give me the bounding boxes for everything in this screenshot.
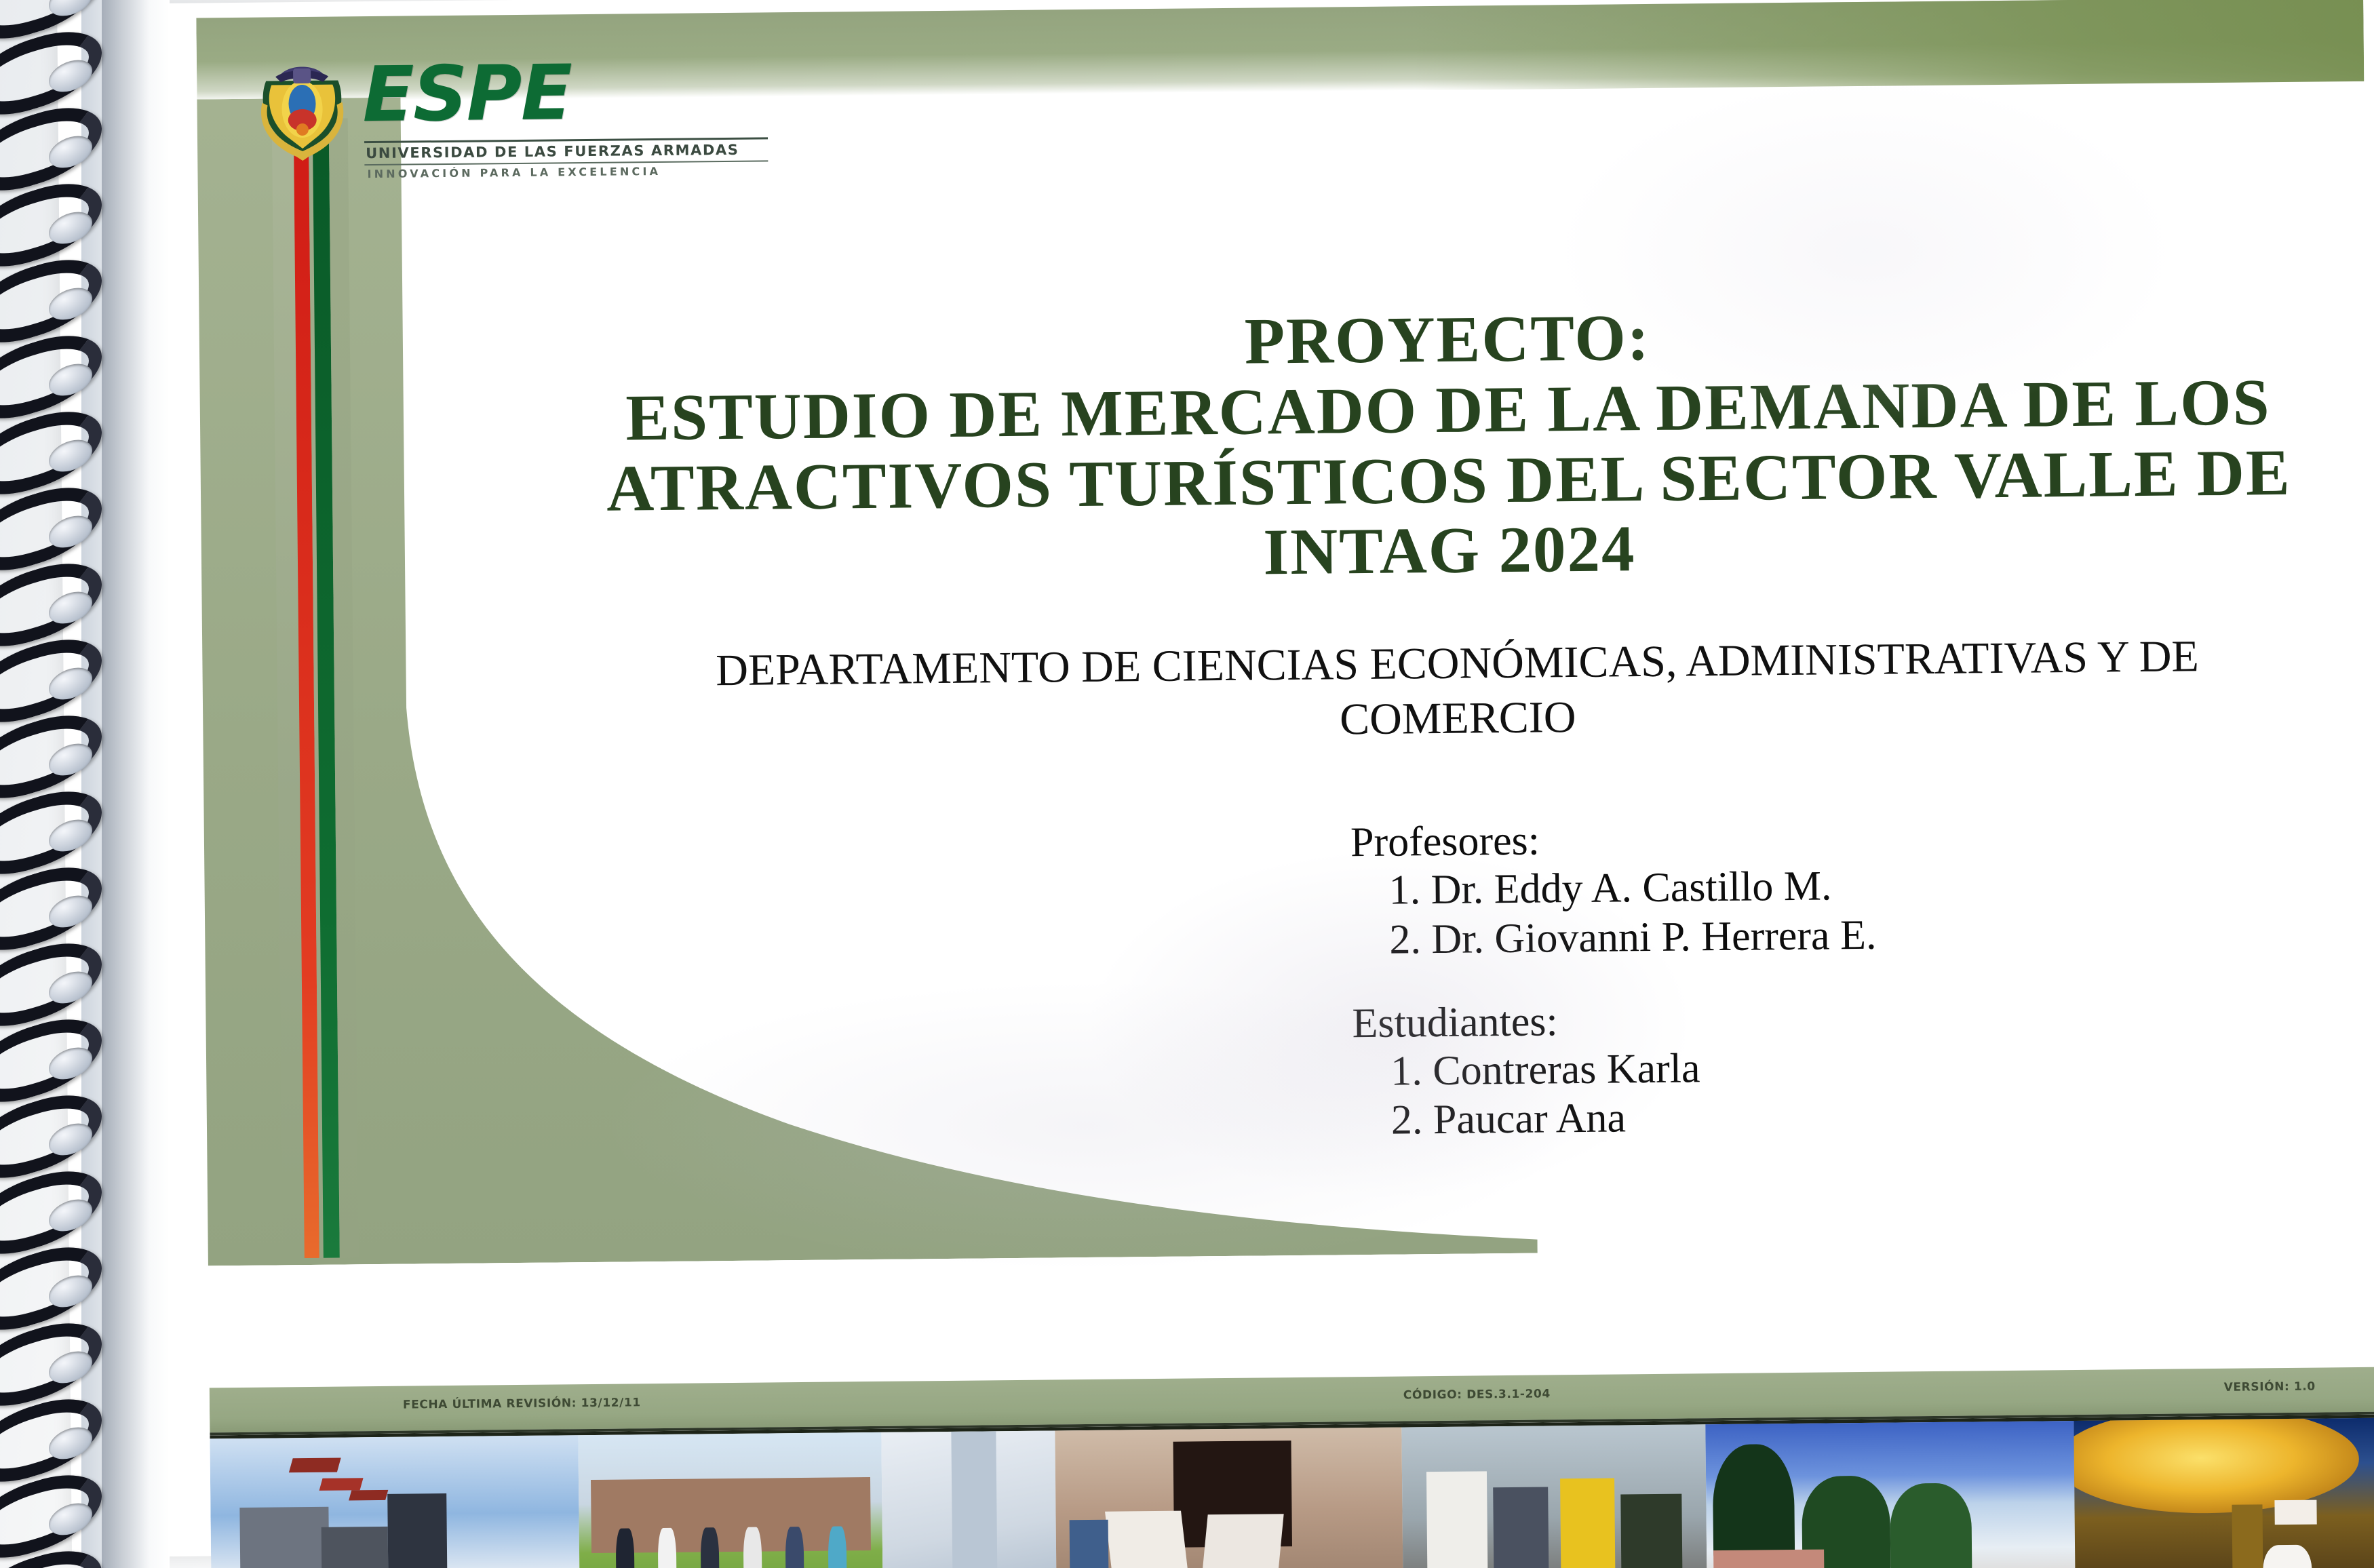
spiral-coil-ring xyxy=(0,874,102,944)
student-item-1: 1. Contreras Karla xyxy=(1353,1038,2303,1097)
footer-version: VERSIÓN: 1.0 xyxy=(2224,1380,2316,1394)
professors-heading: Profesores: xyxy=(1350,810,2301,867)
students-on-lawn-photo xyxy=(579,1432,884,1568)
student-item-2: 2. Paucar Ana xyxy=(1353,1087,2303,1145)
spiral-coil-ring xyxy=(0,114,102,184)
laboratory-photo xyxy=(1055,1428,1403,1568)
spiral-coil-ring xyxy=(0,798,102,868)
corridor-photo xyxy=(882,1430,1057,1568)
presentation-slide: ESPE UNIVERSIDAD DE LAS FUERZAS ARMADAS … xyxy=(196,0,2374,1435)
spiral-binding xyxy=(0,0,129,1568)
slide-title: PROYECTO: ESTUDIO DE MERCADO DE LA DEMAN… xyxy=(579,296,2318,595)
printed-sheet: ESPE UNIVERSIDAD DE LAS FUERZAS ARMADAS … xyxy=(57,0,2374,1557)
spiral-coil-ring xyxy=(0,646,102,716)
spiral-coil-ring xyxy=(0,1481,102,1552)
spiral-coil-ring xyxy=(0,949,102,1020)
photo-strip-wrap xyxy=(210,1415,2374,1568)
espe-wordmark: ESPE xyxy=(362,55,572,133)
spiral-coil-ring xyxy=(0,722,102,792)
spiral-coil-ring xyxy=(0,1329,102,1400)
flag-stripes-graphic xyxy=(272,118,359,1258)
spiral-coil-ring xyxy=(0,1557,102,1568)
spiral-coil-ring xyxy=(0,494,102,564)
spiral-coil-ring xyxy=(0,570,102,640)
golden-canopy-photo xyxy=(2074,1418,2374,1568)
photo-strip xyxy=(210,1415,2374,1568)
footer-code: CÓDIGO: DES.3.1-204 xyxy=(1403,1387,1551,1402)
spiral-coil-ring xyxy=(0,190,102,260)
credits-block: Profesores: 1. Dr. Eddy A. Castillo M. 2… xyxy=(1350,810,2303,1145)
coat-of-arms-icon xyxy=(255,61,349,163)
classroom-students-photo xyxy=(1402,1424,1707,1568)
students-heading: Estudiantes: xyxy=(1352,991,2302,1047)
campus-buildings-photo xyxy=(210,1435,580,1568)
campus-gardens-photo xyxy=(1705,1421,2076,1568)
scanned-page-photo: ESPE UNIVERSIDAD DE LAS FUERZAS ARMADAS … xyxy=(0,0,2374,1568)
spiral-coil-ring xyxy=(0,418,102,488)
spiral-coil-ring xyxy=(0,0,102,33)
professor-item-2: 2. Dr. Giovanni P. Herrera E. xyxy=(1351,907,2301,965)
spiral-coil-ring xyxy=(0,1405,102,1476)
spiral-coil-ring xyxy=(0,266,102,336)
professor-item-1: 1. Dr. Eddy A. Castillo M. xyxy=(1350,857,2301,916)
spiral-coil-ring xyxy=(0,1177,102,1248)
spiral-coil-ring xyxy=(0,1101,102,1172)
spiral-coil-ring xyxy=(0,1025,102,1096)
footer-revision-date: FECHA ÚLTIMA REVISIÓN: 13/12/11 xyxy=(403,1396,641,1411)
slide-text-content: PROYECTO: ESTUDIO DE MERCADO DE LA DEMAN… xyxy=(576,0,2365,1235)
spiral-coil-ring xyxy=(0,342,102,412)
spiral-coil-ring xyxy=(0,38,102,109)
spiral-coil-ring xyxy=(0,1253,102,1324)
department-name: DEPARTAMENTO DE CIENCIAS ECONÓMICAS, ADM… xyxy=(623,629,2292,754)
